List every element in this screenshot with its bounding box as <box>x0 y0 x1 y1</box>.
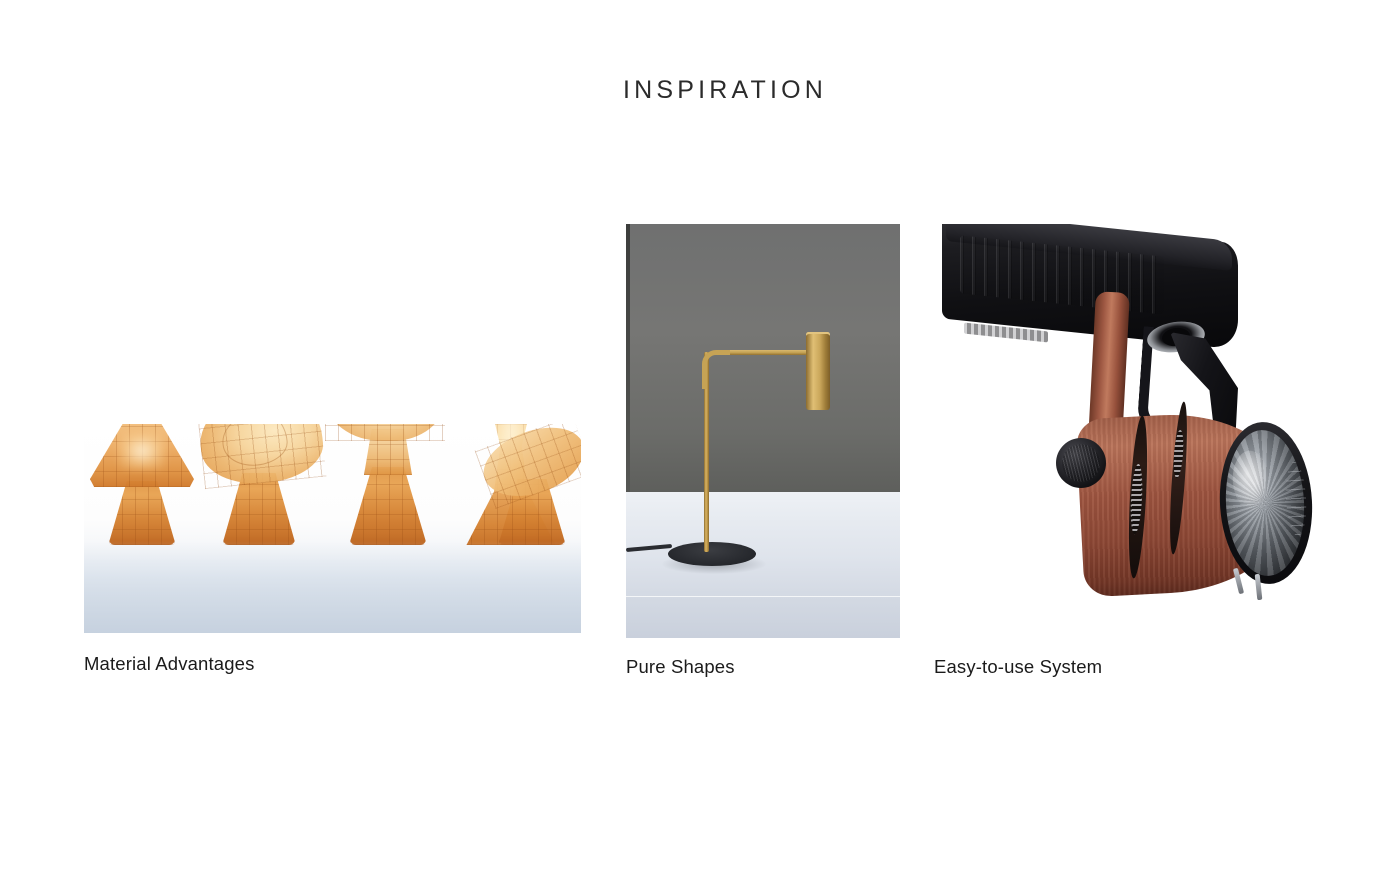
amber-translucent-lamps-photo <box>84 424 581 633</box>
wall-edge-shadow <box>626 224 630 492</box>
slide-canvas: INSPIRATION <box>0 0 1400 875</box>
brass-elbow <box>702 350 741 389</box>
brass-cylinder-head <box>806 334 830 410</box>
lamp-shade <box>325 424 445 441</box>
shade-highlight <box>119 432 165 470</box>
lamp-shell-shape <box>196 424 322 545</box>
lamp-tilted-disc-shape <box>480 424 581 545</box>
track-light-photo-backdrop <box>934 224 1324 636</box>
mesh-texture <box>325 424 445 441</box>
mesh-texture <box>109 481 175 545</box>
card-caption-material-advantages: Material Advantages <box>84 653 254 675</box>
shade-swirl-line <box>219 424 290 469</box>
lamp-horn-shape <box>327 424 449 545</box>
lamp-base <box>350 467 426 545</box>
inspiration-card-easy-to-use-system[interactable]: Easy-to-use System <box>934 224 1324 636</box>
lamp-shade <box>196 424 327 489</box>
lamp-shade <box>90 424 194 487</box>
inspiration-card-pure-shapes[interactable]: Pure Shapes <box>626 224 900 638</box>
page-title: INSPIRATION <box>0 76 1400 105</box>
brass-arm <box>730 350 816 355</box>
lamp-base <box>223 473 295 545</box>
lamps-photo-backdrop <box>84 424 581 633</box>
card-caption-easy-to-use-system: Easy-to-use System <box>934 656 1102 678</box>
lamp-mushroom-shape <box>90 424 194 545</box>
grey-wall <box>626 224 900 492</box>
brass-desk-lamp-photo <box>626 224 900 638</box>
knob-grip-texture <box>1062 444 1100 482</box>
reflective-table-surface <box>84 541 581 633</box>
mesh-texture <box>350 467 426 545</box>
card-caption-pure-shapes: Pure Shapes <box>626 656 735 678</box>
lamp-base-disc <box>668 542 756 566</box>
desk-lamp-photo-backdrop <box>626 224 900 638</box>
mesh-texture <box>223 473 295 545</box>
copper-track-light-photo <box>934 224 1324 636</box>
table-seam-line <box>626 596 900 597</box>
inspiration-card-material-advantages[interactable]: Material Advantages <box>84 424 581 633</box>
black-adjustment-knob <box>1056 438 1106 488</box>
lamp-base <box>109 481 175 545</box>
